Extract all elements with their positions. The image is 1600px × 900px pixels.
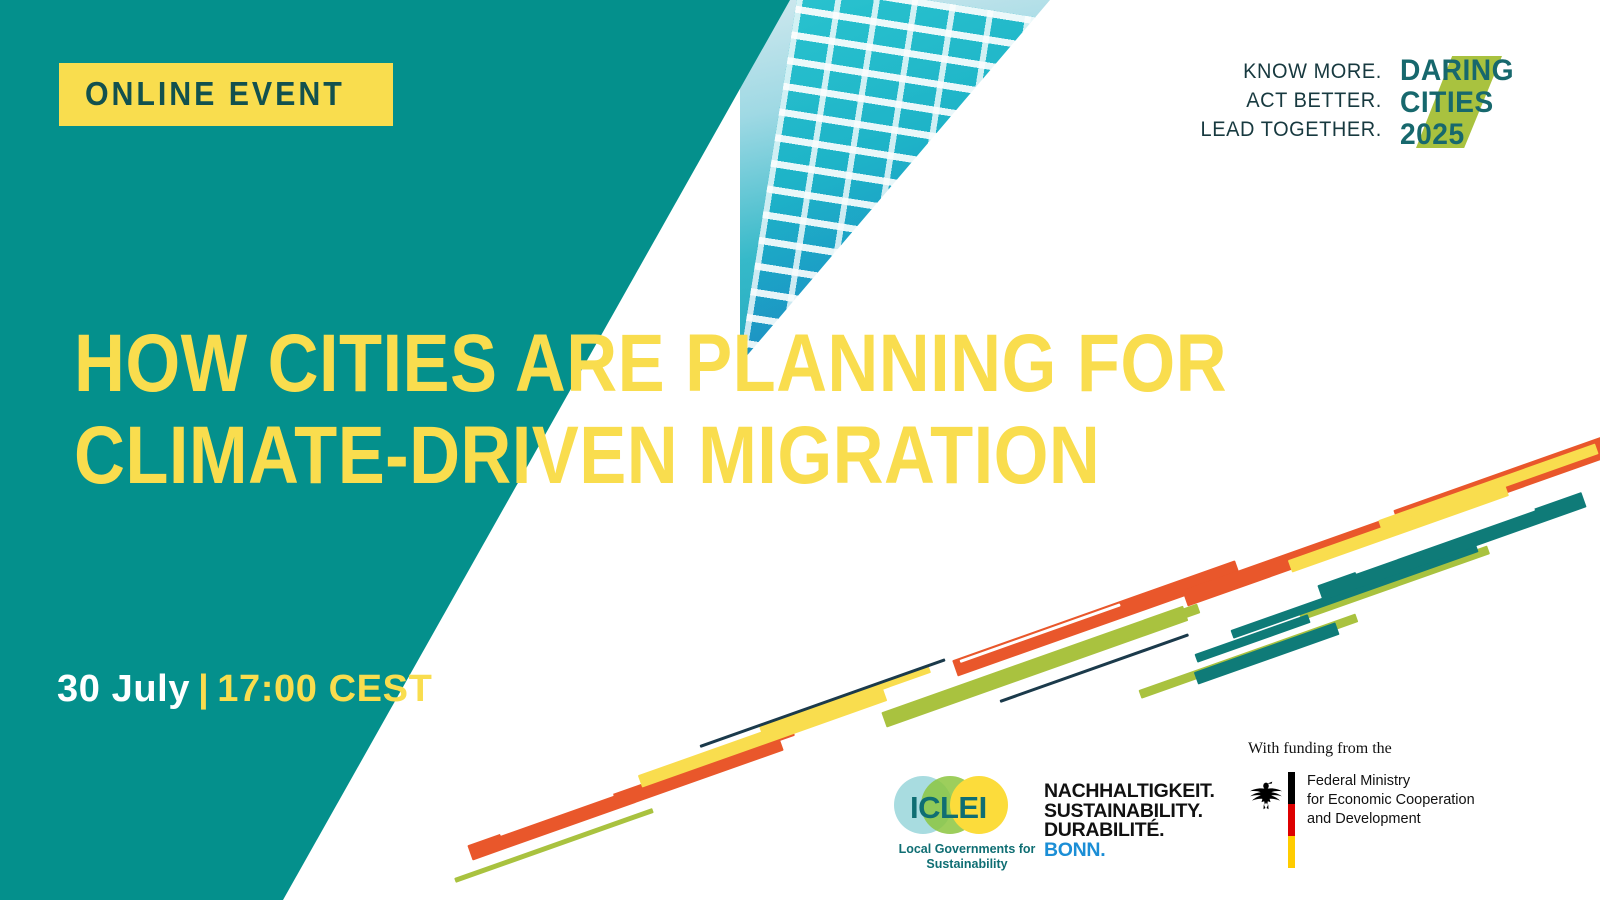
tagline-line-2: ACT BETTER. <box>1201 86 1382 115</box>
bonn-logo: NACHHALTIGKEIT. SUSTAINABILITY. DURABILI… <box>1044 782 1215 860</box>
event-poster: ONLINE EVENT HOW CITIES ARE PLANNING FOR… <box>0 0 1600 900</box>
daring-cities-logo: DARING CITIES 2025 <box>1400 48 1518 152</box>
event-time: 17:00 CEST <box>217 668 432 710</box>
title-line-1: HOW CITIES ARE PLANNING FOR <box>74 318 917 410</box>
tagline-line-1: KNOW MORE. <box>1201 57 1382 86</box>
online-event-badge: ONLINE EVENT <box>59 63 393 126</box>
daring-cities-logo-box: KNOW MORE. ACT BETTER. LEAD TOGETHER. DA… <box>1186 35 1526 165</box>
iclei-logo: ICLEI Local Governments for Sustainabili… <box>884 776 1044 876</box>
iclei-circles-icon: ICLEI <box>894 776 1012 838</box>
logo-word-daring: DARING <box>1400 56 1514 86</box>
online-event-label: ONLINE EVENT <box>85 77 345 110</box>
iclei-wordmark: ICLEI <box>910 790 987 826</box>
bonn-city-label: BONN. <box>1044 841 1215 861</box>
daring-cities-tagline: KNOW MORE. ACT BETTER. LEAD TOGETHER. <box>1201 57 1382 144</box>
ministry-row: Federal Ministry for Economic Cooperatio… <box>1248 772 1498 868</box>
event-date: 30 July <box>57 668 190 710</box>
tagline-line-3: LEAD TOGETHER. <box>1201 115 1382 144</box>
logo-word-year: 2025 <box>1400 120 1465 150</box>
ministry-name-line-1: Federal Ministry <box>1307 772 1475 791</box>
event-datetime: 30 July|17:00 CEST <box>57 668 432 711</box>
title-line-2: CLIMATE-DRIVEN MIGRATION <box>74 410 917 502</box>
german-eagle-icon <box>1248 774 1284 814</box>
datetime-separator: | <box>190 668 217 710</box>
iclei-tagline: Local Governments for Sustainability <box>892 842 1042 872</box>
page-title: HOW CITIES ARE PLANNING FOR CLIMATE-DRIV… <box>74 318 1054 502</box>
bonn-line-de: NACHHALTIGKEIT. <box>1044 782 1215 802</box>
funding-note: With funding from the <box>1248 740 1498 758</box>
ministry-name: Federal Ministry for Economic Cooperatio… <box>1307 772 1475 829</box>
ministry-name-line-2: for Economic Cooperation <box>1307 791 1475 810</box>
german-flag-bar <box>1288 772 1295 868</box>
logo-word-cities: CITIES <box>1400 88 1494 118</box>
bonn-line-fr: DURABILITÉ. <box>1044 821 1215 841</box>
ministry-name-line-3: and Development <box>1307 810 1475 829</box>
federal-ministry-logo: With funding from the Federal Ministry f… <box>1248 740 1498 868</box>
